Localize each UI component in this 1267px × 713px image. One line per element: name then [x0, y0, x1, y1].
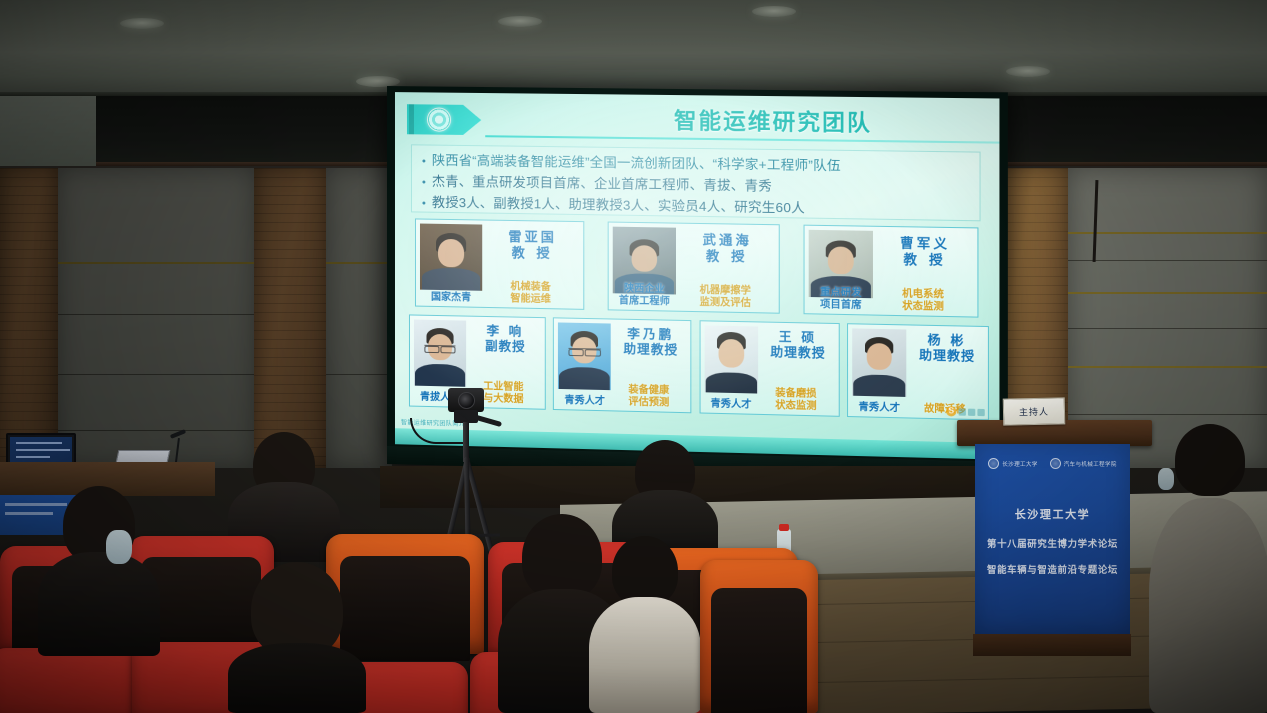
host-sign-text: 主持人	[1019, 405, 1049, 419]
auditorium-seat	[0, 648, 136, 713]
podium-base	[973, 634, 1131, 656]
professor-card: 曹军义 教 授 重点研发 项目首席 机电系统 状态监测	[804, 225, 979, 318]
research-tag: 机械装备 智能运维	[482, 281, 579, 307]
podium-line-3: 智能车辆与智造前沿专题论坛	[975, 562, 1130, 576]
speaker-podium: 主持人 长沙理工大学 汽车与机械工程学院 长沙理工大学 第十八届研究生博力学术论…	[957, 398, 1152, 678]
card-tags: 重点研发 项目首席 机电系统 状态监测	[809, 287, 974, 315]
wall-wood-left-edge	[0, 168, 58, 468]
professor-rank: 教 授	[680, 248, 775, 266]
podium-text-block: 长沙理工大学 第十八届研究生博力学术论坛 智能车辆与智造前沿专题论坛	[975, 506, 1130, 576]
professor-name: 雷亚国	[486, 229, 579, 247]
university-logo: 长沙理工大学	[988, 458, 1037, 469]
honor-tag: 陕西企业 首席工程师	[613, 283, 676, 308]
podium-banner: 长沙理工大学 汽车与机械工程学院 长沙理工大学 第十八届研究生博力学术论坛 智能…	[975, 444, 1130, 634]
professor-rank: 助理教授	[910, 348, 983, 365]
professor-rank: 教 授	[877, 251, 973, 269]
ceiling-light	[120, 18, 164, 29]
lecture-hall-scene: 智能运维研究团队 • 陕西省“高端装备智能运维”全国一流创新团队、“科学家+工程…	[0, 0, 1267, 713]
honor-tag: 青秀人才	[558, 395, 611, 408]
podium-line-2: 第十八届研究生博力学术论坛	[975, 536, 1130, 550]
bottle-cap	[779, 524, 789, 531]
ceiling-light	[752, 6, 796, 17]
ceiling	[0, 0, 1267, 96]
professor-name: 曹军义	[877, 235, 973, 253]
professor-rank: 助理教授	[762, 345, 834, 362]
wall-wood-left-strip	[254, 168, 328, 468]
audience-person	[228, 562, 366, 713]
card-tags: 青秀人才 装备健康 评估预测	[558, 383, 686, 410]
research-tag: 装备健康 评估预测	[611, 384, 687, 410]
podium-line-1: 长沙理工大学	[975, 506, 1130, 522]
bullet-text: 教授3人、副教授1人、助理教授3人、实验员4人、研究生60人	[432, 192, 805, 217]
professor-card: 武通海 教 授 陕西企业 首席工程师 机器摩擦学 监测及评估	[608, 222, 780, 314]
portrait-photo	[414, 320, 466, 387]
audience-person	[38, 486, 160, 656]
bullet-dot: •	[422, 199, 426, 210]
professor-rank: 副教授	[470, 339, 541, 356]
honor-tag: 国家杰青	[420, 292, 482, 305]
portrait-photo	[558, 322, 611, 390]
professor-name: 王 硕	[762, 330, 834, 347]
professor-name: 李 响	[470, 324, 541, 341]
bullet-dot: •	[422, 156, 426, 167]
bullet-text: 杰青、重点研发项目首席、企业首席工程师、青拔、青秀	[432, 171, 772, 195]
research-tag: 机器摩擦学 监测及评估	[676, 284, 775, 310]
research-tag: 机电系统 状态监测	[873, 288, 973, 314]
professor-rank: 助理教授	[615, 342, 686, 359]
research-tag: 装备磨损 状态监测	[758, 387, 834, 413]
card-tags: 青秀人才 装备磨损 状态监测	[704, 386, 834, 413]
university-seal-icon	[988, 458, 999, 469]
podium-logo-row: 长沙理工大学 汽车与机械工程学院	[975, 458, 1130, 469]
wall-panel-left-2	[326, 168, 392, 468]
university-logo-text: 长沙理工大学	[1002, 460, 1037, 468]
honor-tag: 青秀人才	[704, 398, 757, 411]
tripod-column	[463, 422, 469, 462]
professor-card: 李乃鹏 助理教授 青秀人才 装备健康 评估预测	[553, 317, 691, 413]
slide-bullets: • 陕西省“高端装备智能运维”全国一流创新团队、“科学家+工程师”队伍 • 杰青…	[411, 144, 981, 221]
bearing-icon	[427, 107, 451, 131]
professor-name: 李乃鹏	[615, 327, 686, 344]
camera-lens-icon	[458, 392, 475, 409]
face-mask	[1158, 468, 1174, 490]
monitor-screen	[10, 437, 72, 463]
professor-card: 王 硕 助理教授 青秀人才 装备磨损 状态监测	[699, 320, 839, 417]
audience-person	[590, 536, 700, 713]
bullet-dot: •	[422, 177, 426, 188]
sina-logo-icon: S	[946, 406, 956, 416]
ceiling-light	[498, 16, 542, 27]
slide-heading: 智能运维研究团队	[568, 102, 980, 139]
portrait-photo	[852, 328, 906, 397]
wall-panel-left	[56, 168, 256, 468]
portrait-photo	[704, 325, 757, 393]
auditorium-seat	[700, 560, 818, 713]
professor-name: 武通海	[680, 232, 775, 250]
card-tags: 国家杰青 机械装备 智能运维	[420, 280, 579, 307]
ceiling-light	[1006, 66, 1050, 77]
professor-card-row-1: 雷亚国 教 授 国家杰青 机械装备 智能运维	[415, 218, 978, 317]
host-sign: 主持人	[1003, 397, 1066, 425]
college-logo-text: 汽车与机械工程学院	[1064, 460, 1117, 468]
college-seal-icon	[1050, 458, 1061, 469]
college-logo: 汽车与机械工程学院	[1050, 458, 1117, 469]
card-tags: 陕西企业 首席工程师 机器摩擦学 监测及评估	[613, 283, 775, 310]
professor-name: 杨 彬	[910, 333, 983, 350]
professor-rank: 教 授	[486, 245, 579, 263]
honor-tag: 青秀人才	[852, 402, 906, 416]
slide-title-bar: 智能运维研究团队	[407, 100, 987, 147]
professor-card: 雷亚国 教 授 国家杰青 机械装备 智能运维	[415, 218, 584, 309]
face-mask	[106, 530, 132, 564]
honor-tag: 重点研发 项目首席	[809, 287, 873, 313]
